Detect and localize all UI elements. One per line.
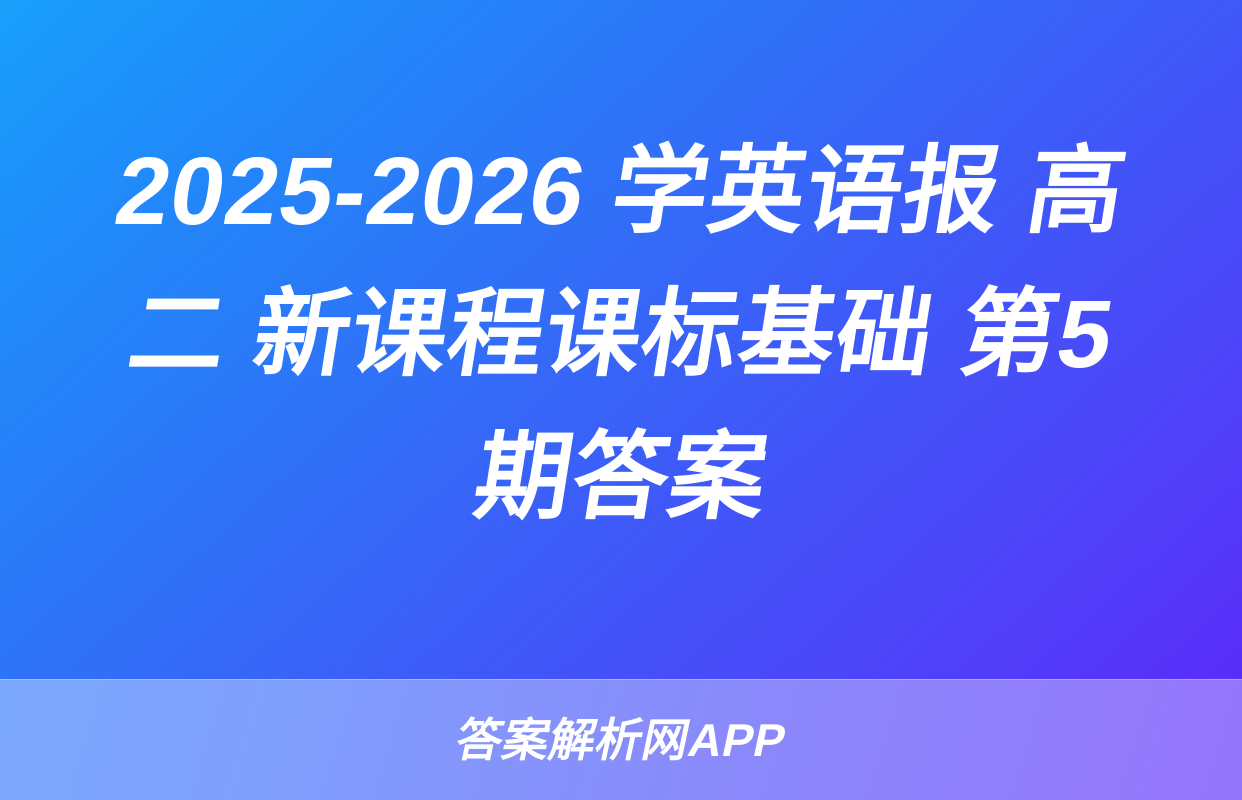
headline-line-2: 二 新课程课标基础 第5 [118, 263, 1123, 406]
headline-line-1: 2025-2026 学英语报 高 [105, 120, 1136, 263]
answer-poster-card: 2025-2026 学英语报 高 二 新课程课标基础 第5 期答案 答案解析网A… [0, 0, 1242, 800]
poster-headline: 2025-2026 学英语报 高 二 新课程课标基础 第5 期答案 [0, 0, 1242, 679]
app-watermark-label: 答案解析网APP [452, 717, 790, 763]
watermark-band: 答案解析网APP [0, 679, 1242, 800]
headline-line-3: 期答案 [464, 406, 778, 549]
